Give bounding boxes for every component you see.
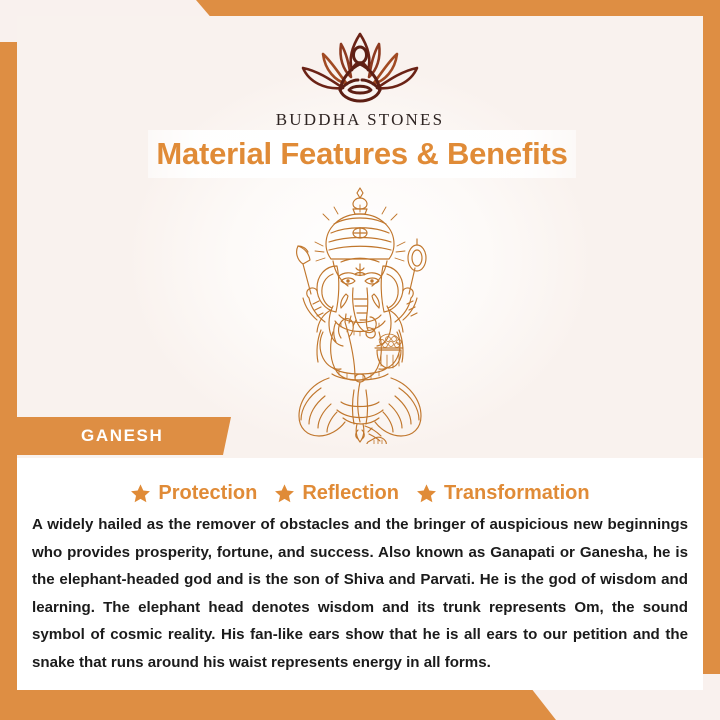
keyword-label: Reflection: [302, 482, 399, 505]
keyword-item-transformation: Transformation: [416, 482, 590, 505]
ganesh-deity-line-art: [261, 182, 459, 444]
brand-logo: BUDDHA STONES: [17, 28, 703, 130]
keyword-list: Protection Reflection Transformation: [17, 482, 703, 505]
lotus-meditation-icon: [285, 28, 435, 106]
keyword-label: Transformation: [444, 482, 590, 505]
keyword-label: Protection: [158, 482, 257, 505]
content-card: BUDDHA STONES Material Features & Benefi…: [17, 16, 703, 690]
keyword-item-protection: Protection: [130, 482, 257, 505]
page-title: Material Features & Benefits: [156, 136, 567, 172]
brand-wordmark: BUDDHA STONES: [17, 110, 703, 130]
title-band: Material Features & Benefits: [148, 130, 576, 178]
deity-name-label: GANESH: [81, 426, 163, 446]
deity-description: A widely hailed as the remover of obstac…: [32, 511, 688, 676]
star-icon: [274, 483, 295, 504]
deity-name-banner: GANESH: [17, 417, 231, 455]
keyword-item-reflection: Reflection: [274, 482, 399, 505]
star-icon: [416, 483, 437, 504]
deity-illustration: [17, 182, 703, 450]
infographic-page: BUDDHA STONES Material Features & Benefi…: [0, 0, 720, 720]
star-icon: [130, 483, 151, 504]
